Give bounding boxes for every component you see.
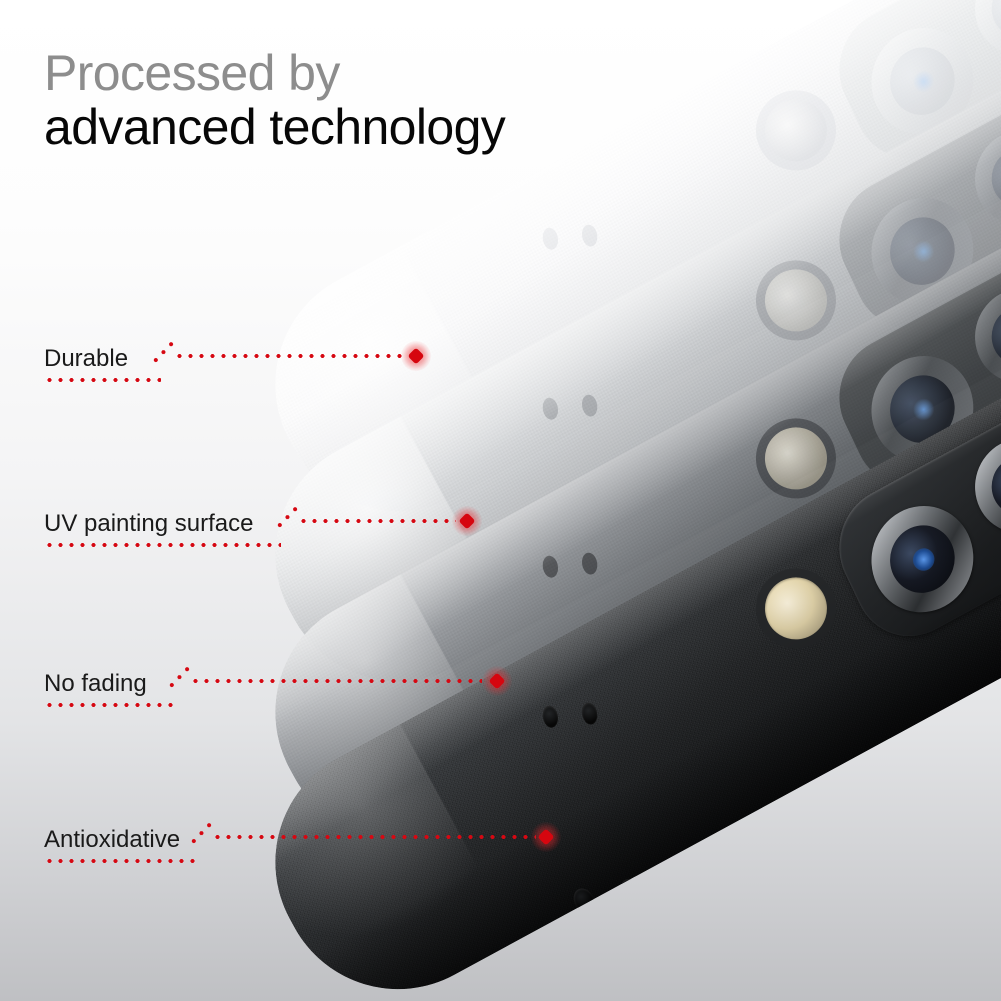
callout-riser [275, 503, 301, 530]
callout-label: Antioxidative [44, 825, 180, 855]
callout-marker [531, 822, 561, 852]
callout-riser [151, 338, 177, 365]
callout-layer: Durable UV painting surface No fading An… [0, 0, 1001, 1001]
callout-underline [44, 703, 174, 707]
callout-underline [44, 859, 196, 863]
callout-marker [482, 666, 512, 696]
callout-leader [174, 354, 406, 358]
callout-leader [190, 679, 482, 683]
callout-marker [401, 341, 431, 371]
callout-riser [189, 819, 215, 846]
callout-underline [44, 378, 161, 382]
product-infographic: Processed by advanced technology [0, 0, 1001, 1001]
callout-underline [44, 543, 281, 547]
callout-leader [298, 519, 456, 523]
callout-marker [452, 506, 482, 536]
callout-riser [167, 663, 193, 690]
callout-label: Durable [44, 344, 128, 374]
callout-leader [212, 835, 536, 839]
callout-label: No fading [44, 669, 147, 699]
callout-label: UV painting surface [44, 509, 253, 539]
